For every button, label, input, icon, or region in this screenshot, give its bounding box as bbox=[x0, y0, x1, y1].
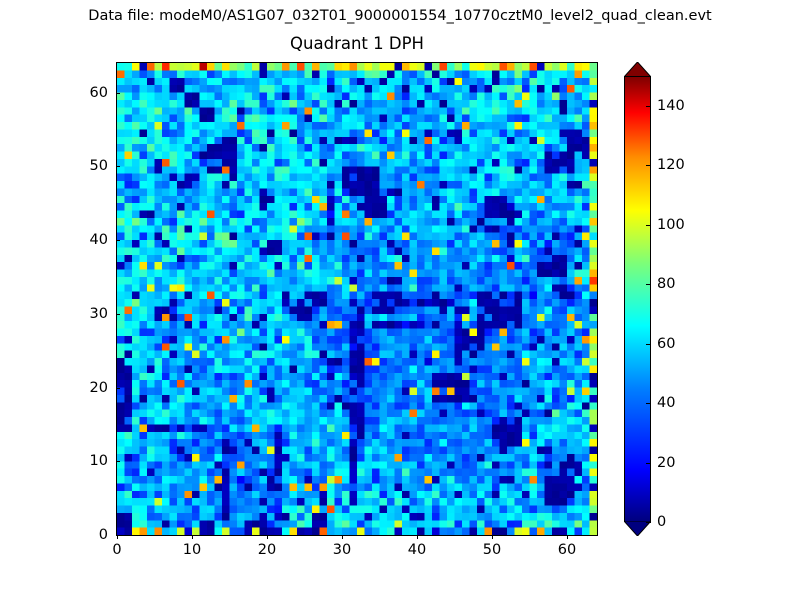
colorbar-tick-label: 20 bbox=[657, 455, 675, 471]
colorbar-tick-mark bbox=[646, 463, 651, 464]
colorbar-gradient bbox=[624, 76, 651, 522]
y-tick-mark bbox=[116, 93, 120, 94]
colorbar-tick-mark bbox=[646, 106, 651, 107]
y-tick-mark bbox=[116, 314, 120, 315]
x-tick-label: 20 bbox=[258, 542, 276, 558]
x-tick-mark bbox=[417, 535, 418, 539]
colorbar-tick-label: 0 bbox=[657, 514, 666, 530]
colorbar-tick-mark bbox=[646, 344, 651, 345]
colorbar-tick-label: 140 bbox=[657, 98, 685, 114]
figure-canvas: Data file: modeM0/AS1G07_032T01_90000015… bbox=[0, 0, 800, 600]
colorbar-tick-mark bbox=[646, 522, 651, 523]
colorbar-tick-label: 80 bbox=[657, 276, 675, 292]
x-tick-mark bbox=[192, 535, 193, 539]
data-file-suptitle: Data file: modeM0/AS1G07_032T01_90000015… bbox=[0, 7, 800, 25]
colorbar-tick-mark bbox=[646, 225, 651, 226]
y-tick-label: 40 bbox=[64, 232, 108, 248]
y-tick-label: 20 bbox=[64, 380, 108, 396]
x-tick-label: 40 bbox=[408, 542, 426, 558]
dph-heatmap-image bbox=[117, 63, 597, 535]
colorbar-tick-mark bbox=[646, 284, 651, 285]
y-tick-mark bbox=[116, 535, 120, 536]
x-tick-label: 0 bbox=[112, 542, 121, 558]
colorbar-tick-mark bbox=[646, 165, 651, 166]
x-tick-label: 50 bbox=[483, 542, 501, 558]
y-tick-mark bbox=[116, 166, 120, 167]
x-tick-label: 60 bbox=[558, 542, 576, 558]
plot-title: Quadrant 1 DPH bbox=[116, 34, 598, 54]
colorbar-extend-min-arrow bbox=[624, 521, 651, 536]
y-tick-label: 10 bbox=[64, 453, 108, 469]
colorbar bbox=[624, 62, 651, 536]
colorbar-tick-mark bbox=[646, 403, 651, 404]
x-tick-label: 30 bbox=[333, 542, 351, 558]
colorbar-tick-label: 60 bbox=[657, 336, 675, 352]
y-tick-mark bbox=[116, 240, 120, 241]
x-tick-mark bbox=[492, 535, 493, 539]
colorbar-tick-label: 40 bbox=[657, 395, 675, 411]
y-tick-mark bbox=[116, 388, 120, 389]
y-tick-label: 0 bbox=[64, 527, 108, 543]
x-tick-label: 10 bbox=[183, 542, 201, 558]
heatmap-axes bbox=[116, 62, 598, 536]
colorbar-extend-max-arrow bbox=[624, 62, 651, 77]
colorbar-tick-label: 120 bbox=[657, 157, 685, 173]
colorbar-tick-label: 100 bbox=[657, 217, 685, 233]
y-tick-label: 60 bbox=[64, 85, 108, 101]
y-tick-label: 50 bbox=[64, 158, 108, 174]
x-tick-mark bbox=[267, 535, 268, 539]
y-tick-mark bbox=[116, 461, 120, 462]
x-tick-mark bbox=[567, 535, 568, 539]
y-tick-label: 30 bbox=[64, 306, 108, 322]
x-tick-mark bbox=[342, 535, 343, 539]
